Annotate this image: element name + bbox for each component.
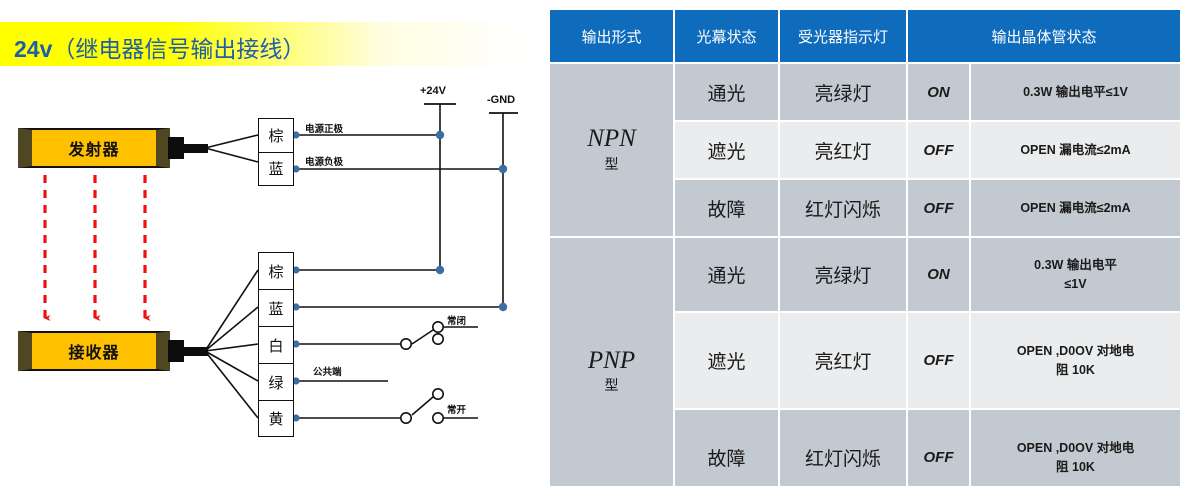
col-curtain-state: 光幕状态 (674, 9, 779, 63)
table-row: NPN 型 通光 亮绿灯 ON 0.3W 输出电平≤1V (549, 63, 1181, 121)
contact-nc-pivot (401, 339, 411, 349)
receiver-fanout (205, 270, 258, 418)
spec-table-panel: 输出形式 光幕状态 受光器指示灯 输出晶体管状态 NPN 型 通光 亮绿灯 ON… (540, 0, 1195, 486)
cell-note: OPEN ,D0OV 对地电 阻 10K (970, 409, 1181, 486)
cell-curtain: 通光 (674, 237, 779, 312)
col-output-type: 输出形式 (549, 9, 674, 63)
cell-state: OFF (907, 409, 970, 486)
col-transistor-state: 输出晶体管状态 (907, 9, 1181, 63)
receiver-plug-cable (182, 347, 208, 356)
cell-note: OPEN ,D0OV 对地电 阻 10K (970, 312, 1181, 409)
cell-indicator: 亮绿灯 (779, 63, 907, 121)
type-name-npn: NPN (587, 125, 636, 152)
cell-note-line1: 0.3W 输出电平 (975, 256, 1176, 275)
emitter-fanout (205, 135, 258, 162)
type-suffix-pnp: 型 (554, 375, 669, 395)
emitter-plug-cable (182, 144, 208, 153)
cell-state: OFF (907, 312, 970, 409)
cell-note-line2: 阻 10K (975, 458, 1176, 477)
cell-indicator: 红灯闪烁 (779, 179, 907, 237)
terminal-receiver-brown: 棕 (259, 253, 293, 290)
title-description: （继电器信号输出接线） (52, 37, 305, 62)
cell-note: 0.3W 输出电平≤1V (970, 63, 1181, 121)
table-row: PNP 型 通光 亮绿灯 ON 0.3W 输出电平 ≤1V (549, 237, 1181, 312)
terminal-receiver-white: 白 (259, 327, 293, 364)
cell-curtain: 遮光 (674, 121, 779, 179)
label-rail-positive: +24V (420, 85, 446, 97)
page-root: 24v（继电器信号输出接线） (0, 0, 1195, 486)
receiver-terminal-block: 棕 蓝 白 绿 黄 (258, 252, 294, 437)
label-power-negative: 电源负极 (305, 154, 343, 168)
terminal-receiver-green: 绿 (259, 364, 293, 401)
type-suffix-npn: 型 (554, 154, 669, 174)
cell-indicator: 亮红灯 (779, 121, 907, 179)
table-body: NPN 型 通光 亮绿灯 ON 0.3W 输出电平≤1V 遮光 亮红灯 OFF … (549, 63, 1181, 486)
cell-curtain: 通光 (674, 63, 779, 121)
cell-note: OPEN 漏电流≤2mA (970, 179, 1181, 237)
cell-indicator: 亮红灯 (779, 312, 907, 409)
emitter-module: 发射器 (18, 128, 170, 168)
cell-curtain: 遮光 (674, 312, 779, 409)
group-type-npn: NPN 型 (549, 63, 674, 237)
wiring-diagram-panel: 24v（继电器信号输出接线） (0, 0, 540, 486)
contact-no-lower-pole (433, 413, 443, 423)
cell-note: OPEN 漏电流≤2mA (970, 121, 1181, 179)
table-header-row: 输出形式 光幕状态 受光器指示灯 输出晶体管状态 (549, 9, 1181, 63)
cell-state: ON (907, 237, 970, 312)
terminal-receiver-blue: 蓝 (259, 290, 293, 327)
cell-indicator: 亮绿灯 (779, 237, 907, 312)
label-power-positive: 电源正极 (305, 121, 343, 135)
table-header: 输出形式 光幕状态 受光器指示灯 输出晶体管状态 (549, 9, 1181, 63)
receiver-label: 接收器 (68, 339, 119, 363)
light-beams (45, 175, 145, 318)
terminal-emitter-brown: 棕 (259, 119, 293, 153)
col-receiver-led: 受光器指示灯 (779, 9, 907, 63)
contact-nc-blade (412, 330, 433, 344)
cell-note: 0.3W 输出电平 ≤1V (970, 237, 1181, 312)
type-name-pnp: PNP (588, 347, 635, 374)
label-normally-open: 常开 (447, 402, 466, 416)
terminal-receiver-yellow: 黄 (259, 401, 293, 435)
cell-note-line1: OPEN ,D0OV 对地电 (975, 342, 1176, 361)
label-common-terminal: 公共端 (313, 364, 342, 378)
emitter-label: 发射器 (68, 136, 119, 160)
output-spec-table: 输出形式 光幕状态 受光器指示灯 输出晶体管状态 NPN 型 通光 亮绿灯 ON… (548, 8, 1182, 486)
group-type-pnp: PNP 型 (549, 237, 674, 486)
page-title: 24v（继电器信号输出接线） (14, 30, 305, 64)
contact-no-pivot (401, 413, 411, 423)
emitter-terminal-block: 棕 蓝 (258, 118, 294, 186)
contact-nc-upper-pole (433, 322, 443, 332)
cell-note-line1: OPEN ,D0OV 对地电 (975, 439, 1176, 458)
title-voltage: 24v (14, 36, 52, 62)
cell-state: OFF (907, 121, 970, 179)
cell-indicator: 红灯闪烁 (779, 409, 907, 486)
schematic-canvas: 发射器 接收器 棕 蓝 棕 蓝 白 绿 黄 (0, 80, 540, 480)
label-normally-closed: 常闭 (447, 313, 466, 327)
cell-state: OFF (907, 179, 970, 237)
terminal-emitter-blue: 蓝 (259, 153, 293, 184)
cell-note-line2: 阻 10K (975, 361, 1176, 380)
cell-state: ON (907, 63, 970, 121)
cell-curtain: 故障 (674, 409, 779, 486)
label-rail-ground: -GND (487, 94, 515, 106)
cell-curtain: 故障 (674, 179, 779, 237)
cell-note-line2: ≤1V (975, 275, 1176, 294)
receiver-module: 接收器 (18, 331, 170, 371)
contact-nc-lower-pole (433, 334, 443, 344)
contact-no-blade (412, 397, 433, 415)
contact-no-upper-pole (433, 389, 443, 399)
